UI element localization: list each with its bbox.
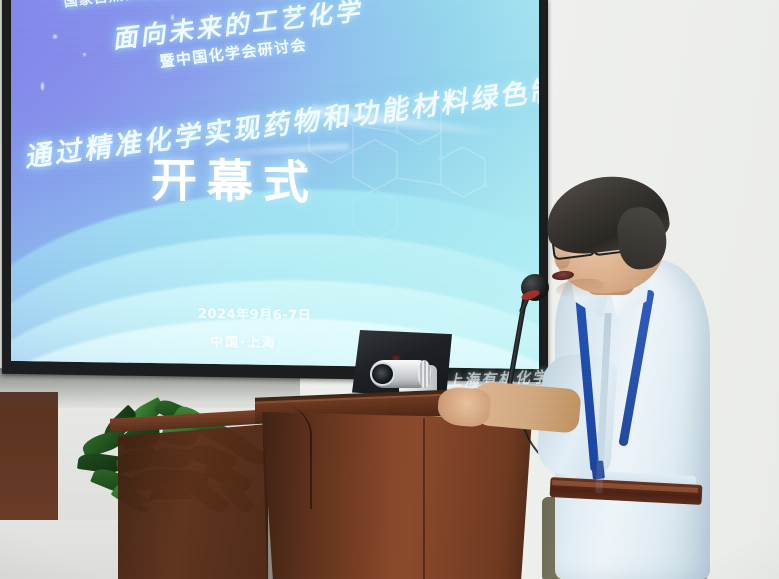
camera-ring (418, 360, 431, 388)
speaker-figure (480, 185, 740, 579)
podium-left-panel (118, 424, 268, 579)
slide-date: 2024年9月6-7日 (198, 303, 311, 324)
slide-title: 开幕式 (151, 144, 319, 213)
slide-text-block: 国家自然科学基金委 面向未来的工艺化学 暨中国化学会研讨会 通过精准化学实现药物… (11, 0, 539, 369)
podium-seam (423, 418, 425, 579)
slide-location: 中国·上海 (210, 331, 277, 351)
slide-organizer-line: 国家自然科学基金委 (62, 0, 198, 11)
conference-photo: 国家自然科学基金委 面向未来的工艺化学 暨中国化学会研讨会 通过精准化学实现药物… (0, 0, 779, 579)
projection-screen: 国家自然科学基金委 面向未来的工艺化学 暨中国化学会研讨会 通过精准化学实现药物… (11, 0, 539, 369)
projection-screen-frame: 国家自然科学基金委 面向未来的工艺化学 暨中国化学会研讨会 通过精准化学实现药物… (2, 0, 548, 382)
podium-cable (280, 404, 312, 509)
camera-lens-icon (370, 362, 395, 386)
